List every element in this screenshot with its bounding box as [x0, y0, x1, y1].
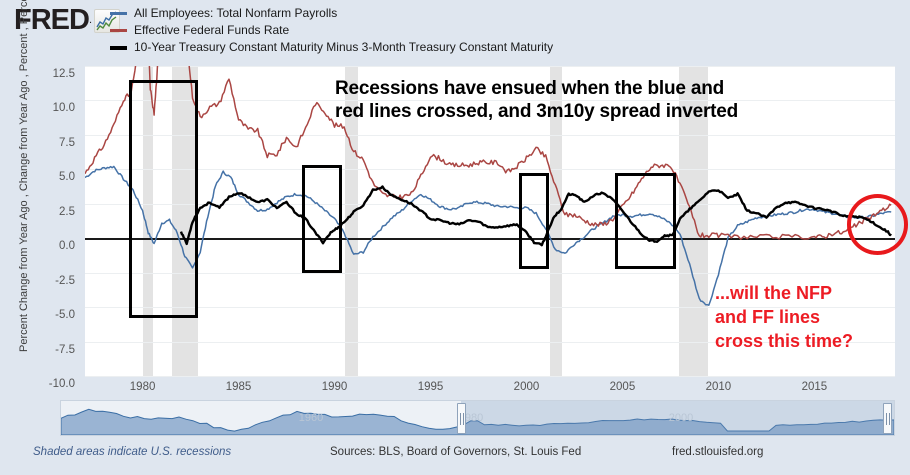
range-handle-right[interactable] [883, 403, 892, 434]
gridline [85, 376, 895, 377]
y-tick-12.5: 12.5 [53, 68, 75, 80]
fred-url[interactable]: fred.stlouisfed.org [672, 446, 763, 458]
x-tick-2010: 2010 [706, 381, 732, 393]
legend-item-fedfunds[interactable]: Effective Federal Funds Rate [110, 23, 553, 38]
x-axis: 19801985199019952000200520102015 [85, 378, 895, 400]
handle-grip-icon [886, 413, 887, 425]
x-tick-1985: 1985 [226, 381, 252, 393]
legend-item-spread[interactable]: 10-Year Treasury Constant Maturity Minus… [110, 40, 553, 55]
fred-dot: . [89, 6, 92, 34]
chart-legend: All Employees: Total Nonfarm Payrolls Ef… [110, 6, 553, 57]
y-tick-7.5: 7.5 [59, 137, 75, 149]
handle-grip-icon [463, 413, 464, 425]
x-tick-2000: 2000 [514, 381, 540, 393]
y-tick--2.5: -2.5 [55, 275, 75, 287]
navigator-year-1960: 1960 [299, 412, 323, 424]
y-tick-2.5: 2.5 [59, 206, 75, 218]
recession-note: Shaded areas indicate U.S. recessions [33, 446, 231, 458]
annotation-headline: Recessions have ensued when the blue and… [335, 77, 738, 123]
box-1980-82-crossing [129, 80, 198, 318]
x-tick-2015: 2015 [802, 381, 828, 393]
handle-grip-icon [889, 413, 890, 425]
x-tick-1995: 1995 [418, 381, 444, 393]
range-navigator[interactable]: 196019802000 [60, 400, 895, 436]
y-tick-10: 10.0 [53, 102, 75, 114]
annotation-headline-line1: Recessions have ensued when the blue and [335, 77, 738, 100]
legend-line-black [110, 46, 127, 50]
annotation-question-line3: cross this time? [715, 329, 853, 353]
y-axis-title: Percent Change from Year Ago , Change fr… [18, 52, 30, 352]
y-tick--10: -10.0 [49, 378, 75, 390]
chart-footer: Shaded areas indicate U.S. recessions So… [0, 440, 910, 475]
y-tick--5: -5.0 [55, 309, 75, 321]
range-handle-left[interactable] [457, 403, 466, 434]
annotation-headline-line2: red lines crossed, and 3m10y spread inve… [335, 100, 738, 123]
y-axis: Percent Change from Year Ago , Change fr… [0, 66, 82, 376]
box-1989-crossing [302, 165, 342, 272]
legend-label-fedfunds: Effective Federal Funds Rate [134, 24, 289, 37]
legend-line-red [110, 29, 127, 32]
plot-canvas[interactable]: Recessions have ensued when the blue and… [85, 66, 895, 376]
circle-2018-19-convergence [847, 194, 908, 255]
chart-area: Percent Change from Year Ago , Change fr… [0, 58, 910, 378]
sources-text: Sources: BLS, Board of Governors, St. Lo… [330, 446, 581, 458]
navigator-year-2000: 2000 [669, 412, 693, 424]
annotation-question-line1: ...will the NFP [715, 281, 853, 305]
x-tick-1980: 1980 [130, 381, 156, 393]
x-tick-2005: 2005 [610, 381, 636, 393]
legend-line-blue [110, 12, 127, 15]
annotation-question: ...will the NFP and FF lines cross this … [715, 281, 853, 353]
x-tick-1990: 1990 [322, 381, 348, 393]
chart-header: FRED . All Employees: Total Nonfarm Payr… [0, 0, 910, 58]
legend-label-nfp: All Employees: Total Nonfarm Payrolls [134, 7, 337, 20]
handle-grip-icon [460, 413, 461, 425]
y-tick--7.5: -7.5 [55, 344, 75, 356]
fred-chart-page: FRED . All Employees: Total Nonfarm Payr… [0, 0, 910, 475]
y-tick-0: 0.0 [59, 240, 75, 252]
annotation-question-line2: and FF lines [715, 305, 853, 329]
legend-item-nfp[interactable]: All Employees: Total Nonfarm Payrolls [110, 6, 553, 21]
box-2000-crossing [519, 173, 550, 268]
box-2005-07-crossing [615, 173, 676, 268]
legend-label-spread: 10-Year Treasury Constant Maturity Minus… [134, 41, 553, 54]
y-tick-5: 5.0 [59, 171, 75, 183]
